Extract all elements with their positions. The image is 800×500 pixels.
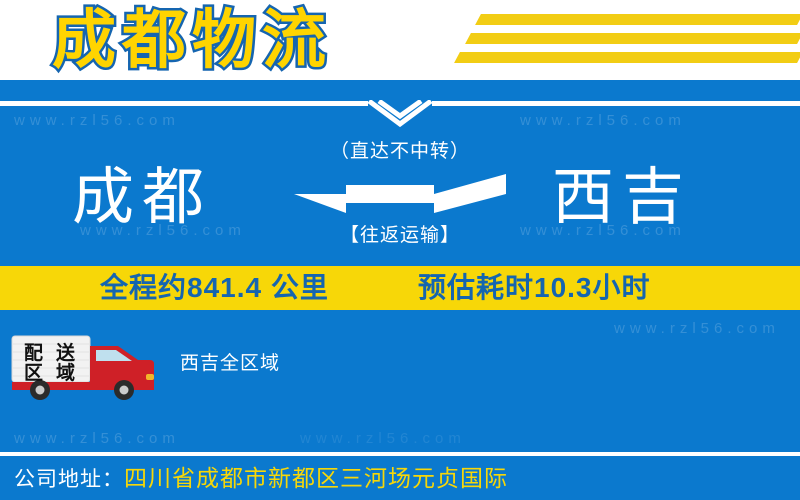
truck-box-char-4: 域 [56,361,75,384]
stripe-2 [465,33,800,44]
stats-band: 全程约841.4 公里 预估耗时10.3小时 [0,266,800,310]
chevron-down-icon [368,100,432,134]
direct-service-note: （直达不中转） [280,136,520,163]
delivery-truck-icon: 配 送 区 域 [10,330,156,400]
origin-city: 成都 [72,148,212,248]
company-address: 公司地址：四川省成都市新都区三河场元贞国际 [14,456,508,500]
divider [0,101,800,106]
watermark: www.rzl56.com [614,320,780,337]
watermark: www.rzl56.com [14,112,180,129]
route-section: 成都 西吉 （直达不中转） 【往返运输】 [0,148,800,258]
page-title: 成都物流 [52,2,332,78]
delivery-zone-label: 西吉全区域 [180,348,280,375]
round-trip-note: 【往返运输】 [280,220,520,247]
poster-header: 成都物流 [0,0,800,80]
stripe-1 [475,14,800,25]
poster-footer: 公司地址：四川省成都市新都区三河场元贞国际 [0,456,800,500]
decorative-stripes [440,14,800,72]
truck-box-char-2: 送 [56,341,76,364]
address-label: 公司地址： [14,468,124,491]
double-arrow-icon [294,172,506,214]
duration-text: 预估耗时10.3小时 [418,266,651,310]
divider-line-left [0,101,368,106]
route-middle: （直达不中转） 【往返运输】 [280,136,520,266]
truck-box-char-1: 配 [24,342,43,364]
distance-text: 全程约841.4 公里 [100,266,329,310]
divider-line-right [432,101,800,106]
stripe-3 [454,52,800,63]
truck-box-char-3: 区 [24,362,43,384]
destination-city: 西吉 [552,148,692,248]
delivery-zone-section: 配 送 区 域 西吉全区域 [10,330,430,400]
address-value: 四川省成都市新都区三河场元贞国际 [124,465,508,491]
watermark: www.rzl56.com [520,112,686,129]
watermark: www.rzl56.com [300,430,466,447]
watermark: www.rzl56.com [14,430,180,447]
logistics-poster: 成都物流 www.rzl56.com www.rzl56.com www.rzl… [0,0,800,500]
